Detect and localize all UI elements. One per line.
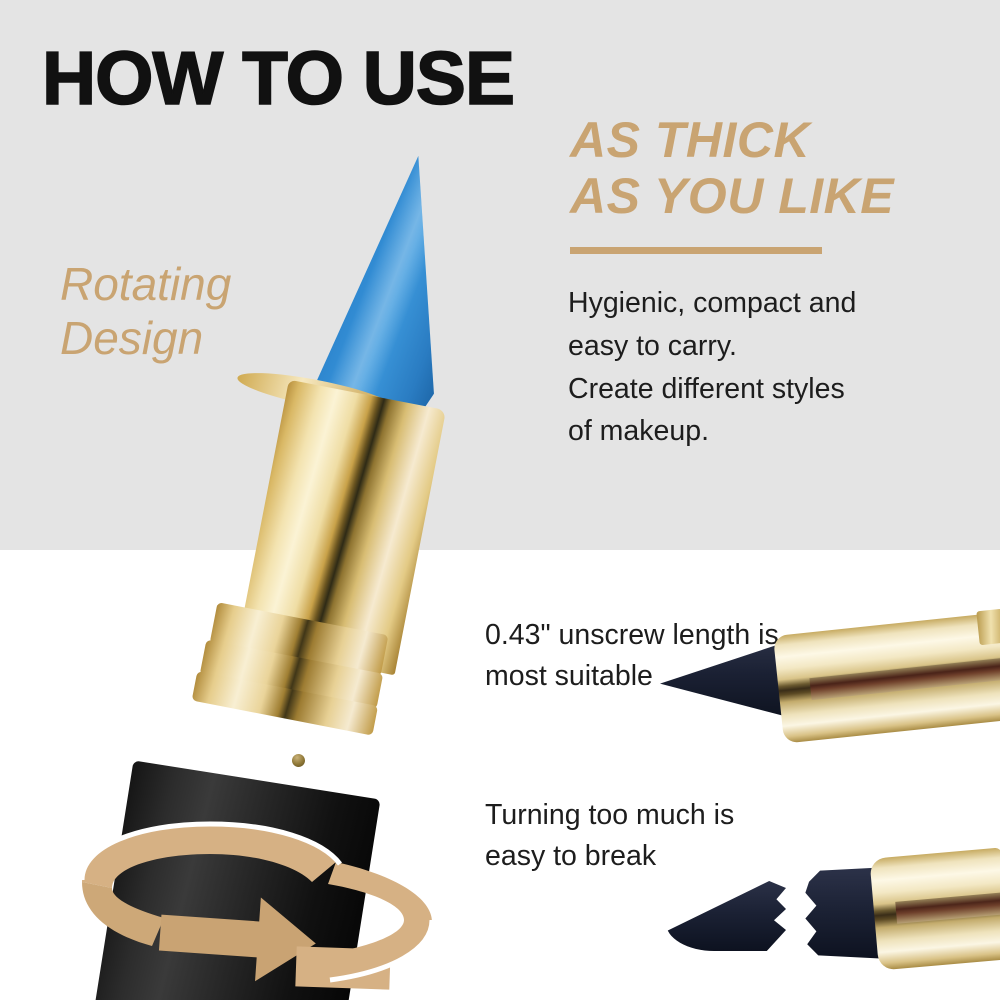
- gold-divider-rule: [570, 247, 822, 254]
- feature-body-line3: Create different styles: [568, 368, 968, 411]
- intact-cone-tip: [660, 640, 792, 718]
- broken-liner-tip-photo: [660, 845, 1000, 995]
- pinhole-icon: [291, 753, 306, 768]
- page-title: HOW TO USE: [42, 41, 514, 116]
- tip-caption-2-line1: Turning too much is: [485, 795, 855, 836]
- infographic-page: HOW TO USE Rotating Design AS THICK AS Y…: [0, 0, 1000, 1000]
- intact-barrel-cap: [976, 609, 1000, 646]
- main-product-image: [60, 140, 480, 960]
- feature-body-line4: of makeup.: [568, 410, 968, 453]
- feature-body-line1: Hygienic, compact and: [568, 282, 968, 325]
- feature-body-copy: Hygienic, compact and easy to carry. Cre…: [568, 282, 968, 453]
- feature-body-line2: easy to carry.: [568, 325, 968, 368]
- rotation-arrow-icon: [60, 770, 480, 1000]
- feature-heading-line2: AS YOU LIKE: [570, 168, 980, 224]
- broken-tip-fragment: [666, 881, 786, 951]
- feature-heading-line1: AS THICK: [570, 112, 980, 168]
- feature-heading: AS THICK AS YOU LIKE: [570, 112, 980, 224]
- intact-liner-tip-photo: [660, 608, 1000, 758]
